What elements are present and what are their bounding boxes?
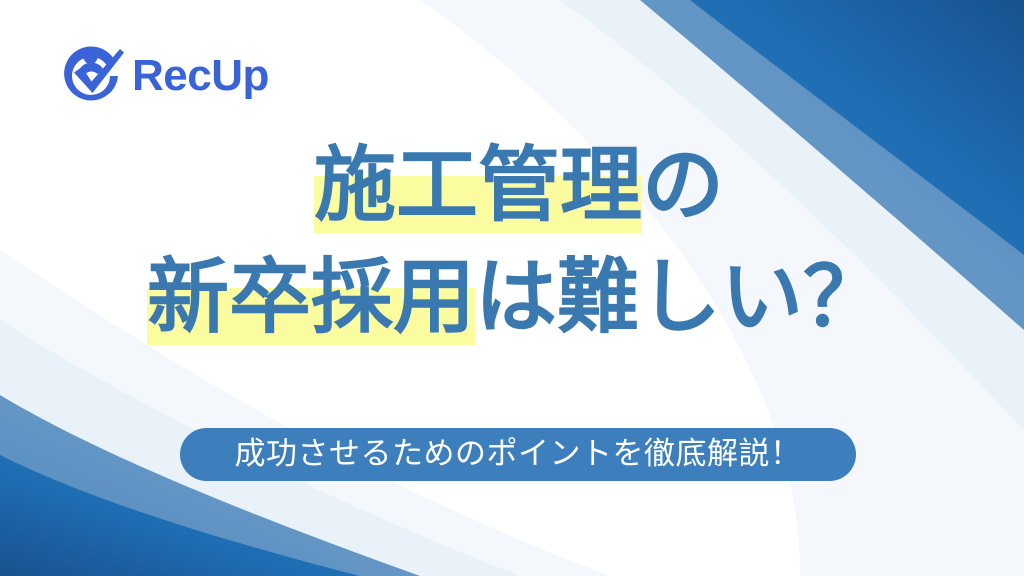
subtitle-pill: 成功させるためのポイントを徹底解説！ — [180, 428, 856, 481]
headline-highlight-1: 施工管理 — [314, 138, 642, 233]
headline-line-1: 施工管理の — [0, 130, 1024, 242]
brand-name: RecUp — [132, 54, 269, 98]
subtitle-pill-label: 成功させるためのポイントを徹底解説！ — [235, 439, 802, 470]
headline-line-2: 新卒採用は難しい？ — [0, 242, 1024, 354]
headline: 施工管理の 新卒採用は難しい？ — [0, 130, 1024, 354]
brand-logo: RecUp — [60, 40, 269, 112]
person-check-circle-icon — [60, 43, 126, 109]
thumbnail-canvas: RecUp 施工管理の 新卒採用は難しい？ 成功させるためのポイントを徹底解説！ — [0, 0, 1024, 576]
decor-band-bottom-mid — [0, 395, 420, 576]
headline-highlight-2: 新卒採用 — [147, 250, 475, 345]
headline-plain-2: は難しい？ — [475, 250, 885, 345]
headline-plain-1: の — [642, 138, 724, 233]
